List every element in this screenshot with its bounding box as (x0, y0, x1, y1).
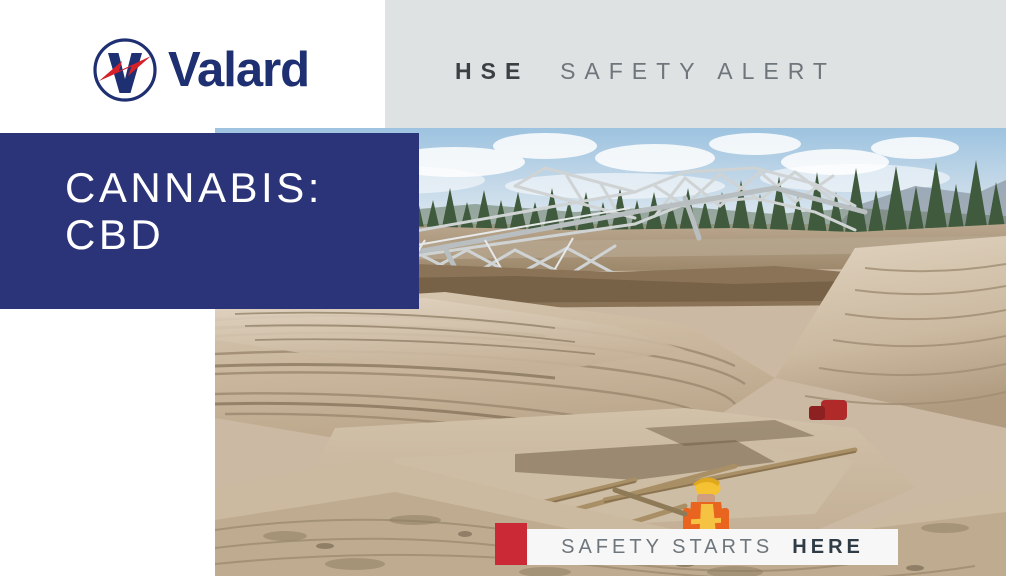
alert-heading-bold: HSE (455, 58, 529, 84)
footer-tagline-light: SAFETY STARTS (561, 536, 773, 559)
brand-logo[interactable]: Valard (92, 37, 309, 103)
page-title: CANNABIS: CBD (65, 164, 410, 258)
footer-banner: SAFETY STARTS HERE (495, 523, 898, 565)
footer-tagline-bold: HERE (792, 536, 864, 559)
logo-plate: Valard (0, 0, 385, 128)
alert-heading: HSE SAFETY ALERT (455, 58, 836, 85)
footer-tagline: SAFETY STARTS HERE (527, 529, 898, 565)
alert-heading-light: SAFETY ALERT (560, 58, 836, 84)
valard-v-lightning-icon (92, 37, 158, 103)
brand-wordmark: Valard (168, 46, 309, 95)
alert-topic-panel: CANNABIS: CBD (0, 133, 419, 309)
safety-alert-poster: Valard HSE SAFETY ALERT (0, 0, 1024, 576)
footer-accent-square (495, 523, 527, 565)
